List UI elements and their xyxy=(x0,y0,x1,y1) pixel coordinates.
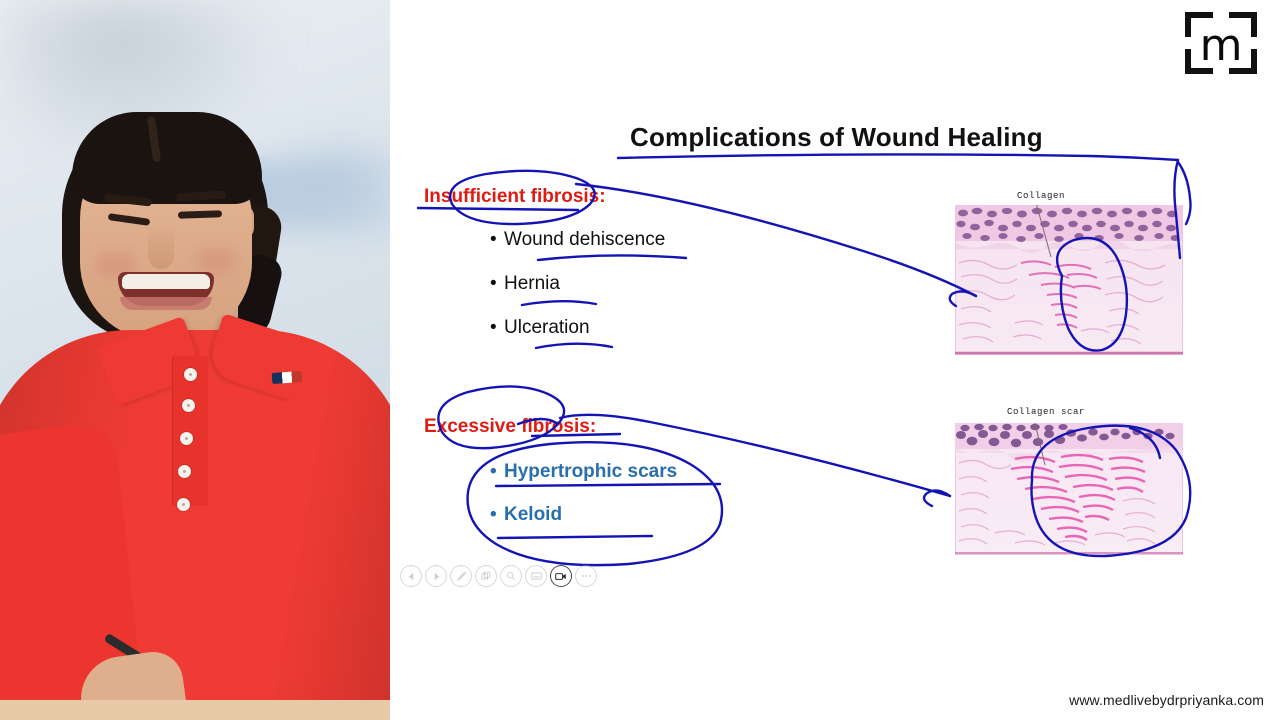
bullet-marker: • xyxy=(490,273,504,295)
bullet-marker: • xyxy=(490,229,504,251)
list-item-wound-dehiscence: •Wound dehiscence xyxy=(490,229,665,251)
subtitles-icon[interactable] xyxy=(525,565,547,587)
nose xyxy=(148,225,174,269)
list-item-label: Hernia xyxy=(504,273,560,294)
list-item-ulceration: •Ulceration xyxy=(490,317,590,339)
section-heading-excessive-fibrosis: Excessive fibrosis: xyxy=(424,416,596,438)
list-item-label: Hypertrophic scars xyxy=(504,461,677,482)
pen-icon[interactable] xyxy=(450,565,472,587)
cheek-right xyxy=(196,248,236,274)
ink-annotation-layer xyxy=(390,0,1280,720)
page-title: Complications of Wound Healing xyxy=(630,122,1043,153)
shirt-button-3 xyxy=(180,432,193,445)
figure-label-collagen: Collagen xyxy=(1017,191,1065,201)
play-button[interactable] xyxy=(425,565,447,587)
figure-label-collagen-scar: Collagen scar xyxy=(1007,407,1085,417)
medlive-logo: m xyxy=(1185,12,1257,74)
histology-figure-collagen-scar: Collagen scar xyxy=(955,423,1183,555)
bullet-marker: • xyxy=(490,504,504,526)
histology-image-2 xyxy=(955,423,1183,555)
slide-area: m Complications of Wound Healing Insuffi… xyxy=(390,0,1280,720)
lower-lip xyxy=(120,297,212,310)
hair-front xyxy=(72,112,262,204)
histology-image-1 xyxy=(955,205,1183,355)
shirt-button-5 xyxy=(177,498,190,511)
teeth xyxy=(122,274,210,289)
shirt-button-2 xyxy=(182,399,195,412)
video-control-bar[interactable] xyxy=(400,560,610,592)
presenter-figure xyxy=(0,0,390,720)
ellipsis-icon[interactable] xyxy=(575,565,597,587)
desk-surface xyxy=(0,700,390,720)
list-item-hernia: •Hernia xyxy=(490,273,560,295)
section-heading-insufficient-fibrosis: Insufficient fibrosis: xyxy=(424,186,606,208)
histology-figure-normal-scar: Collagen xyxy=(955,205,1183,355)
shirt-brand-flag-logo xyxy=(272,371,303,384)
shirt-button-1 xyxy=(184,368,197,381)
video-camera-icon[interactable] xyxy=(550,565,572,587)
list-item-label: Ulceration xyxy=(504,317,590,338)
magnifier-icon[interactable] xyxy=(500,565,522,587)
shirt-button-4 xyxy=(178,465,191,478)
list-item-keloid: •Keloid xyxy=(490,504,562,526)
list-item-label: Keloid xyxy=(504,504,562,525)
logo-m-glyph: m xyxy=(1185,26,1257,66)
bullet-marker: • xyxy=(490,461,504,483)
list-item-hypertrophic-scars: •Hypertrophic scars xyxy=(490,461,677,483)
site-watermark: www.medlivebydrpriyanka.com xyxy=(1069,692,1264,708)
video-presenter-panel[interactable] xyxy=(0,0,390,720)
copy-icon[interactable] xyxy=(475,565,497,587)
previous-button[interactable] xyxy=(400,565,422,587)
list-item-label: Wound dehiscence xyxy=(504,229,665,250)
bullet-marker: • xyxy=(490,317,504,339)
